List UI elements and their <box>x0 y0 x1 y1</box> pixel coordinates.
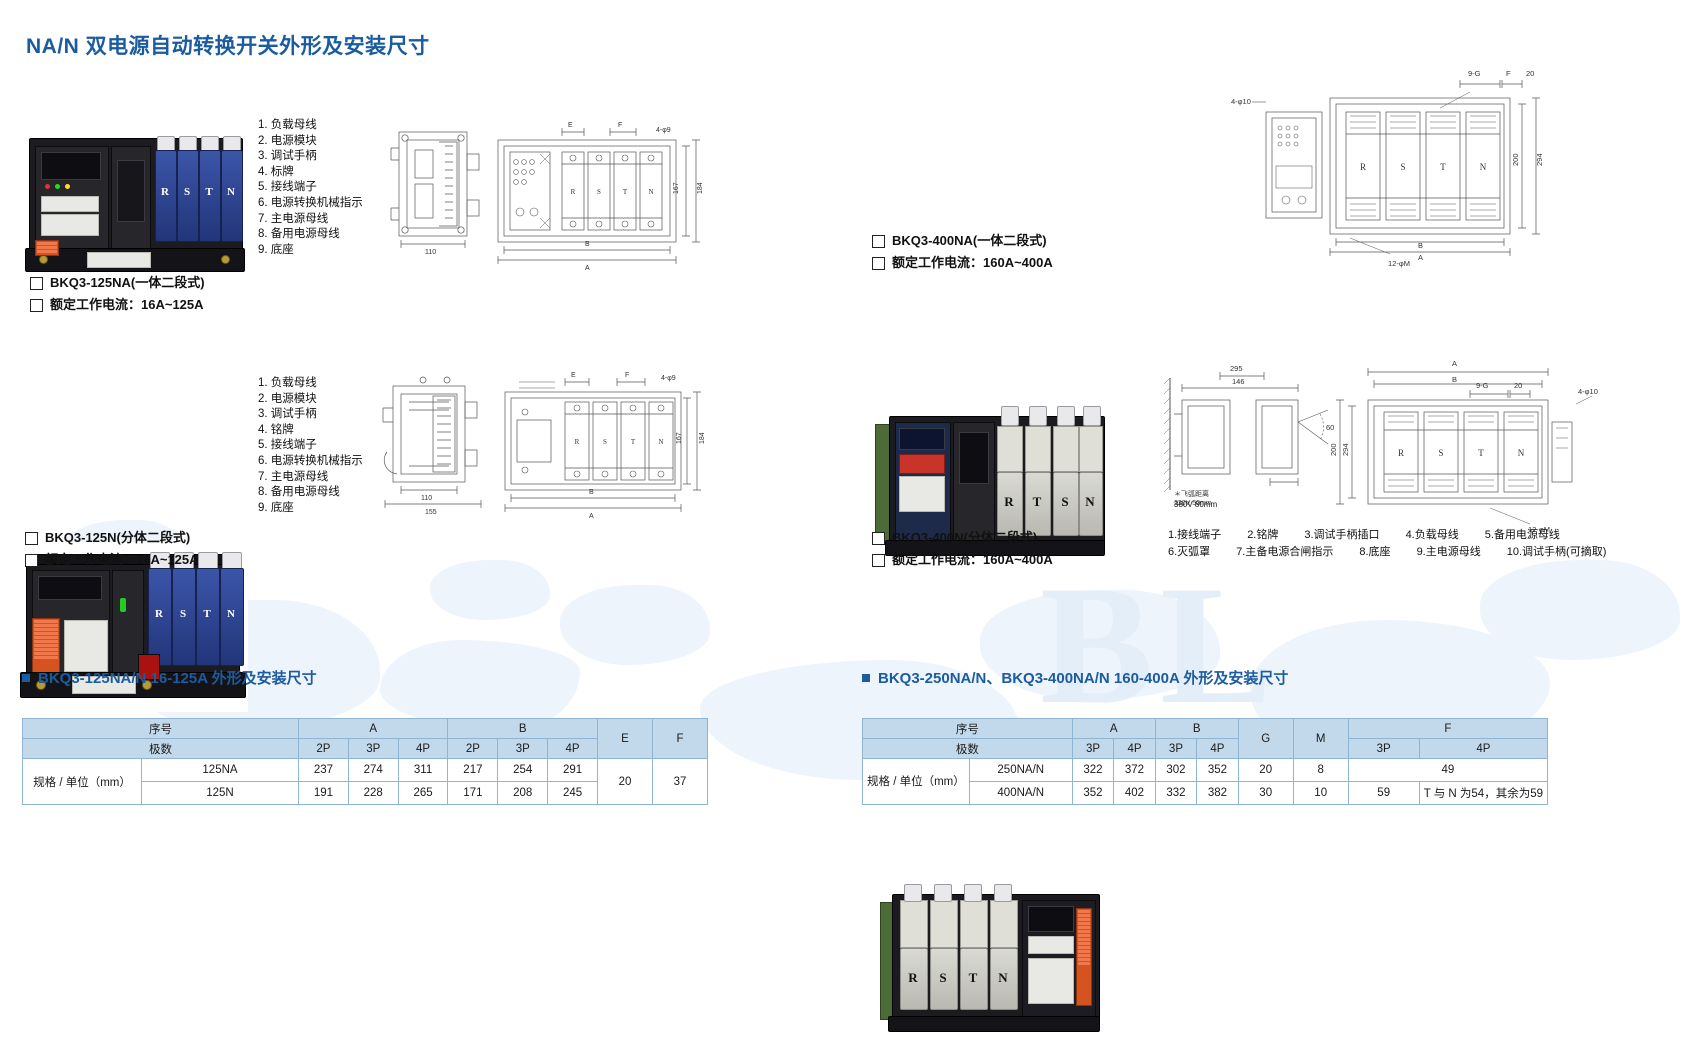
col-header-m: M <box>1293 719 1348 759</box>
svg-text:S: S <box>603 438 607 446</box>
legend-item: 7. 主电源母线 <box>258 212 363 228</box>
legend-item: 8. 备用电源母线 <box>258 227 363 243</box>
legend-bkq3-125na: 1. 负载母线 2. 电源模块 3. 调试手柄 4. 标牌 5. 接线端子 6.… <box>258 118 363 258</box>
legend-item: 5. 接线端子 <box>258 180 363 196</box>
col-header-a-4p: 4P <box>1114 739 1155 759</box>
col-header-b: B <box>448 719 598 739</box>
cell-b-2p: 217 <box>448 759 498 782</box>
cell-m: 8 <box>1293 759 1348 782</box>
legend-item: 8.底座 <box>1359 544 1390 561</box>
drawing-bkq3-400na: 4-φ10 9-G F 20 200 294 12-φM B A RS TN <box>1230 62 1550 272</box>
table-row: 规格 / 单位（mm） 125NA 237 274 311 217 254 29… <box>23 759 708 782</box>
col-header-b-3p: 3P <box>498 739 548 759</box>
svg-text:N: N <box>658 438 663 446</box>
legend-item: 10.调试手柄(可摘取) <box>1507 544 1607 561</box>
legend-item: 3.调试手柄插口 <box>1304 527 1379 544</box>
legend-item: 2. 电源模块 <box>258 392 363 408</box>
legend-item: 5.备用电源母线 <box>1485 527 1560 544</box>
arc-note-bkq3-400n: 380V 80mm <box>1174 500 1217 510</box>
checkbox-icon[interactable] <box>30 299 43 312</box>
legend-item: 3. 调试手柄 <box>258 407 363 423</box>
col-header-a-2p: 2P <box>299 739 349 759</box>
svg-text:R: R <box>575 438 580 446</box>
dimension-label: 200 <box>1330 443 1338 456</box>
legend-item: 5. 接线端子 <box>258 438 363 454</box>
col-header-serial: 序号 <box>863 719 1073 739</box>
drawing-bkq3-400n-front: A B 9-G 20 4-φ10 294 200 12-φM RS TN <box>1330 352 1605 537</box>
legend-item: 1.接线端子 <box>1168 527 1221 544</box>
section-heading-table-125: BKQ3-125NA/N 16-125A 外形及安装尺寸 <box>22 667 317 688</box>
table-header-row: 序号 A B G M F <box>863 719 1548 739</box>
row-name: 125N <box>142 782 299 805</box>
page-title: NA/N 双电源自动转换开关外形及安装尺寸 <box>26 30 430 60</box>
dimension-label: B <box>1452 375 1457 384</box>
col-header-g: G <box>1238 719 1293 759</box>
cell-b-4p: 245 <box>548 782 598 805</box>
col-header-a: A <box>299 719 448 739</box>
dimension-label: A <box>1452 359 1457 368</box>
col-header-a: A <box>1072 719 1155 739</box>
cell-b-4p: 291 <box>548 759 598 782</box>
caption-bkq3-400na: BKQ3-400NA(一体二段式) 额定工作电流：160A~400A <box>872 230 1053 274</box>
col-header-poles: 极数 <box>23 739 299 759</box>
dimension-label: B <box>1418 241 1423 250</box>
dimension-label: F <box>1506 69 1511 78</box>
dimension-label: 12-φM <box>1388 259 1410 268</box>
dimension-label: 167 <box>673 182 680 194</box>
bullet-square-icon <box>862 674 870 682</box>
dimension-label: 200 <box>1511 153 1520 166</box>
svg-text:S: S <box>1438 448 1443 458</box>
svg-text:N: N <box>1518 448 1525 458</box>
cell-a-4p: 265 <box>398 782 448 805</box>
cell-b-3p: 332 <box>1155 782 1196 805</box>
cell-m: 10 <box>1293 782 1348 805</box>
drawing-bkq3-125n-side: 110 155 <box>375 372 510 522</box>
legend-item: 4. 标牌 <box>258 165 363 181</box>
svg-text:T: T <box>1478 448 1484 458</box>
caption-text: 额定工作电流：160A~400A <box>892 549 1053 571</box>
col-header-e: E <box>598 719 653 759</box>
dimension-label: E <box>571 372 576 379</box>
cell-a-2p: 237 <box>299 759 349 782</box>
svg-text:N: N <box>1480 162 1487 172</box>
dimension-label: 167 <box>676 432 683 444</box>
caption-text: BKQ3-400NA(一体二段式) <box>892 230 1047 252</box>
col-header-a-3p: 3P <box>1072 739 1113 759</box>
checkbox-icon[interactable] <box>30 277 43 290</box>
dimension-label: F <box>625 372 629 379</box>
row-name: 250NA/N <box>969 759 1072 782</box>
arc-note-title: ＊飞弧距离 <box>1174 489 1209 498</box>
col-header-b-2p: 2P <box>448 739 498 759</box>
drawing-bkq3-400n-mounting: 295 146 60 ＊飞弧距离 220V 50mm <box>1160 360 1345 510</box>
dimension-label: 9-G <box>1468 69 1481 78</box>
dimension-label: A <box>589 513 594 520</box>
checkbox-icon[interactable] <box>872 554 885 567</box>
col-header-b-4p: 4P <box>548 739 598 759</box>
section-heading-table-400: BKQ3-250NA/N、BKQ3-400NA/N 160-400A 外形及安装… <box>862 667 1288 688</box>
dimension-label: 4-φ10 <box>1578 387 1598 396</box>
product-photo-bkq3-400n: R S T N <box>880 878 1100 1043</box>
caption-text: BKQ3-125NA(一体二段式) <box>50 272 205 294</box>
dimension-label: 294 <box>1535 153 1544 166</box>
dimension-label: B <box>585 241 590 248</box>
legend-item: 6.灭弧罩 <box>1168 544 1210 561</box>
caption-text: 额定工作电流：16A~125A <box>45 549 199 571</box>
dimension-label: 184 <box>697 182 704 194</box>
cell-a-3p: 228 <box>348 782 398 805</box>
legend-item: 1. 负载母线 <box>258 118 363 134</box>
legend-bkq3-400n: 1.接线端子 2.铭牌 3.调试手柄插口 4.负载母线 5.备用电源母线 6.灭… <box>1168 527 1606 561</box>
col-header-a-4p: 4P <box>398 739 448 759</box>
caption-bkq3-400n: BKQ3-400N(分体二段式) 额定工作电流：160A~400A <box>872 527 1053 571</box>
cell-a-3p: 322 <box>1072 759 1113 782</box>
checkbox-icon[interactable] <box>872 257 885 270</box>
cell-b-4p: 382 <box>1197 782 1239 805</box>
col-header-f: F <box>653 719 708 759</box>
table-header-row: 序号 A B E F <box>23 719 708 739</box>
table-row: 规格 / 单位（mm） 250NA/N 322 372 302 352 20 8… <box>863 759 1548 782</box>
col-header-b: B <box>1155 719 1238 739</box>
cell-a-2p: 191 <box>299 782 349 805</box>
row-label-spec-unit: 规格 / 单位（mm） <box>863 759 970 805</box>
dimension-label: E <box>568 122 573 129</box>
legend-item: 9.主电源母线 <box>1417 544 1481 561</box>
col-header-poles: 极数 <box>863 739 1073 759</box>
drawing-bkq3-125n-front: A B E F 4-φ9 167 184 RS TN <box>495 368 705 533</box>
svg-text:R: R <box>1360 162 1366 172</box>
bullet-square-icon <box>22 674 30 682</box>
caption-text: BKQ3-400N(分体二段式) <box>892 527 1037 549</box>
cell-g: 30 <box>1238 782 1293 805</box>
caption-bkq3-125n: BKQ3-125N(分体二段式) 额定工作电流：16A~125A <box>25 527 199 571</box>
svg-text:R: R <box>571 188 576 196</box>
dimension-label: 294 <box>1341 443 1350 456</box>
dimension-label: 155 <box>425 509 437 516</box>
cell-f: 37 <box>653 759 708 805</box>
legend-item: 1. 负载母线 <box>258 376 363 392</box>
dimension-label: 9-G <box>1476 381 1489 390</box>
checkbox-icon[interactable] <box>25 532 38 545</box>
svg-text:T: T <box>631 438 636 446</box>
svg-text:N: N <box>648 188 653 196</box>
section-heading-text: BKQ3-125NA/N 16-125A 外形及安装尺寸 <box>38 667 317 688</box>
drawing-bkq3-125na-side: 110 <box>385 120 505 270</box>
cell-f-merged: 49 <box>1348 759 1547 782</box>
legend-item: 4.负载母线 <box>1406 527 1459 544</box>
cell-a-4p: 311 <box>398 759 448 782</box>
col-header-b-3p: 3P <box>1155 739 1196 759</box>
product-photo-bkq3-125na: R S T N <box>25 120 245 290</box>
cell-f-4p: T 与 N 为54，其余为59 <box>1419 782 1547 805</box>
table-header-row-2: 极数 3P 4P 3P 4P 3P 4P <box>863 739 1548 759</box>
dimension-label: 146 <box>1232 377 1245 386</box>
legend-item: 6. 电源转换机械指示 <box>258 196 363 212</box>
legend-item: 2.铭牌 <box>1247 527 1278 544</box>
svg-text:T: T <box>1440 162 1446 172</box>
cell-a-3p: 274 <box>348 759 398 782</box>
dimension-label: 20 <box>1514 381 1522 390</box>
caption-text: 额定工作电流：16A~125A <box>50 294 204 316</box>
table-125-dimensions: 序号 A B E F 极数 2P 3P 4P 2P 3P 4P 规格 / 单位（… <box>22 718 708 805</box>
legend-item: 9. 底座 <box>258 243 363 259</box>
legend-item: 6. 电源转换机械指示 <box>258 454 363 470</box>
col-header-b-4p: 4P <box>1197 739 1239 759</box>
drawing-bkq3-125na-front: A B E F 4-φ9 167 184 RS TN <box>490 118 705 283</box>
legend-item: 7. 主电源母线 <box>258 470 363 486</box>
cell-b-2p: 171 <box>448 782 498 805</box>
legend-item: 3. 调试手柄 <box>258 149 363 165</box>
section-heading-text: BKQ3-250NA/N、BKQ3-400NA/N 160-400A 外形及安装… <box>878 667 1288 688</box>
dimension-label: B <box>589 489 594 496</box>
cell-g: 20 <box>1238 759 1293 782</box>
dimension-label: 20 <box>1526 69 1534 78</box>
row-name: 400NA/N <box>969 782 1072 805</box>
cell-a-4p: 372 <box>1114 759 1155 782</box>
dimension-label: 4-φ10 <box>1231 97 1251 106</box>
col-header-a-3p: 3P <box>348 739 398 759</box>
col-header-f-4p: 4P <box>1419 739 1547 759</box>
caption-bkq3-125na: BKQ3-125NA(一体二段式) 额定工作电流：16A~125A <box>30 272 205 316</box>
svg-text:R: R <box>1398 448 1404 458</box>
table-400-dimensions: 序号 A B G M F 极数 3P 4P 3P 4P 3P 4P 规格 / 单… <box>862 718 1548 805</box>
checkbox-icon[interactable] <box>872 235 885 248</box>
dimension-label: F <box>618 122 622 129</box>
cell-a-3p: 352 <box>1072 782 1113 805</box>
legend-item: 2. 电源模块 <box>258 134 363 150</box>
col-header-f-3p: 3P <box>1348 739 1419 759</box>
legend-bkq3-125n: 1. 负载母线 2. 电源模块 3. 调试手柄 4. 铭牌 5. 接线端子 6.… <box>258 376 363 516</box>
caption-text: 额定工作电流：160A~400A <box>892 252 1053 274</box>
cell-b-3p: 208 <box>498 782 548 805</box>
legend-item: 4. 铭牌 <box>258 423 363 439</box>
dimension-label: 110 <box>421 495 432 502</box>
dimension-label: 184 <box>699 432 705 444</box>
dimension-label: 110 <box>425 249 436 256</box>
svg-text:S: S <box>1400 162 1405 172</box>
cell-f-3p: 59 <box>1348 782 1419 805</box>
col-header-f: F <box>1348 719 1547 739</box>
row-label-spec-unit: 规格 / 单位（mm） <box>23 759 142 805</box>
svg-text:S: S <box>597 188 601 196</box>
legend-item: 7.主备电源合闸指示 <box>1236 544 1333 561</box>
checkbox-icon[interactable] <box>25 554 38 567</box>
cell-b-3p: 302 <box>1155 759 1196 782</box>
dimension-label: 295 <box>1230 364 1243 373</box>
checkbox-icon[interactable] <box>872 532 885 545</box>
caption-text: BKQ3-125N(分体二段式) <box>45 527 190 549</box>
dimension-label: 4-φ9 <box>661 375 676 382</box>
cell-e: 20 <box>598 759 653 805</box>
legend-item: 8. 备用电源母线 <box>258 485 363 501</box>
svg-text:T: T <box>623 188 628 196</box>
row-name: 125NA <box>142 759 299 782</box>
arc-note: 380V 80mm <box>1174 500 1217 510</box>
cell-b-4p: 352 <box>1197 759 1239 782</box>
col-header-serial: 序号 <box>23 719 299 739</box>
dimension-label: 4-φ9 <box>656 127 671 134</box>
dimension-label: A <box>1418 253 1423 262</box>
row-label-text: 规格 / 单位（mm） <box>867 776 965 788</box>
cell-a-4p: 402 <box>1114 782 1155 805</box>
dimension-label: A <box>585 265 590 272</box>
legend-item: 9. 底座 <box>258 501 363 517</box>
cell-b-3p: 254 <box>498 759 548 782</box>
